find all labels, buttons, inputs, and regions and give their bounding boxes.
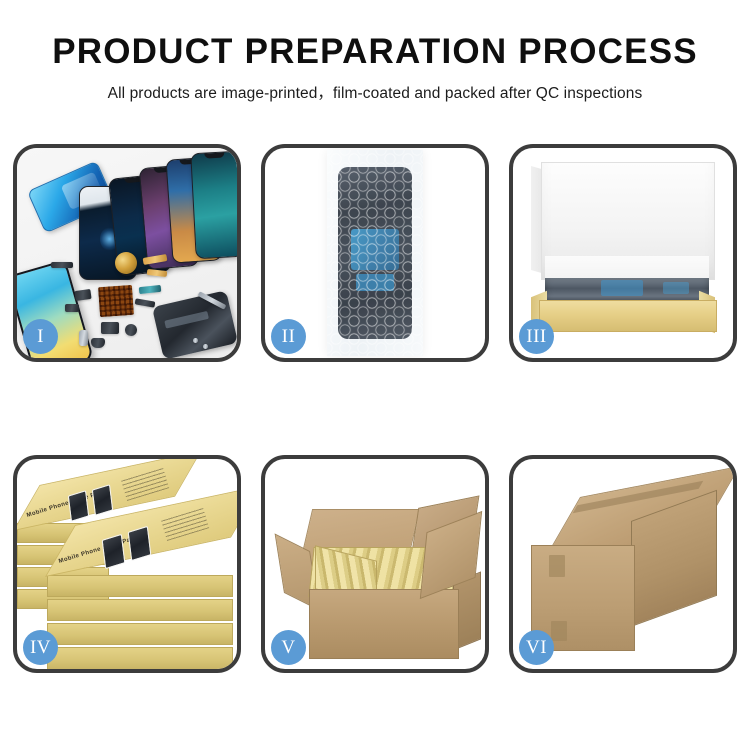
part-connector-2-icon <box>65 304 79 312</box>
stacked-box-edge-5 <box>47 575 233 595</box>
carton-front-panel-icon <box>309 589 459 659</box>
header: PRODUCT PREPARATION PROCESS All products… <box>0 0 750 103</box>
process-step-grid: I II III <box>13 144 737 673</box>
product-preparation-infographic: { "header": { "title": "PRODUCT PREPARAT… <box>0 0 750 750</box>
step-badge-4: IV <box>23 630 58 665</box>
carton-tab-lower-icon <box>551 621 567 641</box>
box-lid-phone-image-1 <box>68 490 89 522</box>
stacked-box-edge-6 <box>47 599 233 619</box>
bubble-wrap-sheet-icon <box>327 150 423 356</box>
panel-step-5[interactable]: V <box>261 455 489 673</box>
stacked-box-edge-8 <box>47 647 233 669</box>
part-button-icon <box>125 324 137 336</box>
part-module-icon <box>101 322 119 334</box>
page-subtitle: All products are image-printed，film-coat… <box>0 81 750 103</box>
page-title: PRODUCT PREPARATION PROCESS <box>0 34 750 71</box>
coil-component-icon <box>115 252 137 274</box>
step-badge-6: VI <box>519 630 554 665</box>
step-badge-1: I <box>23 319 58 354</box>
part-vibrator-icon <box>91 338 105 348</box>
step-badge-2: II <box>271 319 306 354</box>
step-badge-3: III <box>519 319 554 354</box>
step-badge-5: V <box>271 630 306 665</box>
part-speaker-icon <box>51 262 73 268</box>
phone-display-4-icon <box>190 151 237 259</box>
panel-step-3[interactable]: III <box>509 144 737 362</box>
panel-step-4[interactable]: Mobile Phone Spare Parts Mobile Phone Sp… <box>13 455 241 673</box>
box-lid-phone-image-3 <box>102 534 126 569</box>
part-screw-2-icon <box>203 344 208 349</box>
box-lid-phone-image-4 <box>128 526 152 561</box>
carton-tab-upper-icon <box>549 555 565 577</box>
part-screw-1-icon <box>193 338 198 343</box>
panel-step-6[interactable]: VI <box>509 455 737 673</box>
part-camera-icon <box>79 330 88 346</box>
panel-step-2[interactable]: II <box>261 144 489 362</box>
bubble-texture-icon <box>327 150 423 356</box>
mailer-front-panel-icon <box>539 300 717 332</box>
box-lid-phone-image-2 <box>92 484 113 516</box>
stacked-box-edge-7 <box>47 623 233 643</box>
panel-step-1[interactable]: I <box>13 144 241 362</box>
chip-grid-icon <box>98 285 134 317</box>
